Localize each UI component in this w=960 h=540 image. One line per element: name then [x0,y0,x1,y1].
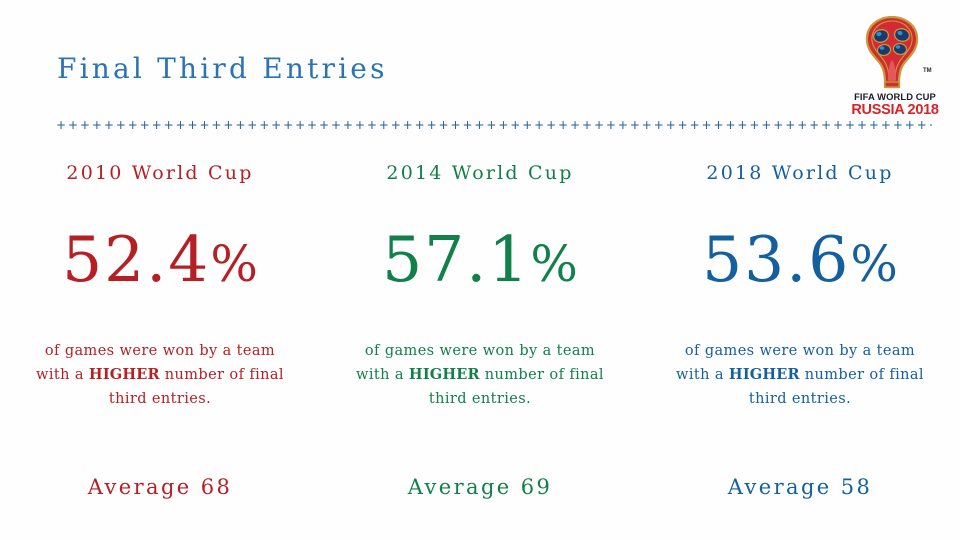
column-stat-2014: 57.1% [320,228,640,291]
desc-emphasis-2018: HIGHER [729,366,800,383]
column-description-2010: of games were won by a team with a HIGHE… [26,340,294,411]
trademark-mark: TM [923,68,932,74]
column-stat-2018: 53.6% [640,228,960,291]
page-title: Final Third Entries [57,52,388,85]
stats-columns: 2010 World Cup 52.4% of games were won b… [0,150,960,530]
column-stat-2010: 52.4% [0,228,320,291]
logo-line-fifa-world-cup: FIFA WORLD CUP [845,91,945,102]
column-average-2010: Average 68 [0,475,320,499]
stat-column-2018: 2018 World Cup 53.6% of games were won b… [640,150,960,530]
column-header-2014: 2014 World Cup [320,162,640,184]
desc-emphasis-2010: HIGHER [89,366,160,383]
slide-root: Final Third Entries TM FIFA WORLD CUP RU… [0,0,960,540]
column-description-2014: of games were won by a team with a HIGHE… [346,340,614,411]
column-description-2018: of games were won by a team with a HIGHE… [666,340,934,411]
column-average-2014: Average 69 [320,475,640,499]
stat-value-2018: 53.6 [702,223,850,296]
fifa-world-cup-logo: TM FIFA WORLD CUP RUSSIA 2018 [845,16,945,116]
stat-column-2010: 2010 World Cup 52.4% of games were won b… [0,150,320,530]
stat-value-2010: 52.4 [62,223,210,296]
percent-symbol-2014: % [530,235,578,293]
column-header-2018: 2018 World Cup [640,162,960,184]
desc-emphasis-2014: HIGHER [409,366,480,383]
stat-column-2014: 2014 World Cup 57.1% of games were won b… [320,150,640,530]
column-average-2018: Average 58 [640,475,960,499]
column-header-2010: 2010 World Cup [0,162,320,184]
stat-value-2014: 57.1 [382,223,530,296]
world-cup-trophy-icon [861,16,923,90]
logo-line-russia-2018: RUSSIA 2018 [845,102,945,118]
percent-symbol-2010: % [210,235,258,293]
percent-symbol-2018: % [850,235,898,293]
decorative-plus-divider: ++++++++++++++++++++++++++++++++++++++++… [56,119,932,131]
